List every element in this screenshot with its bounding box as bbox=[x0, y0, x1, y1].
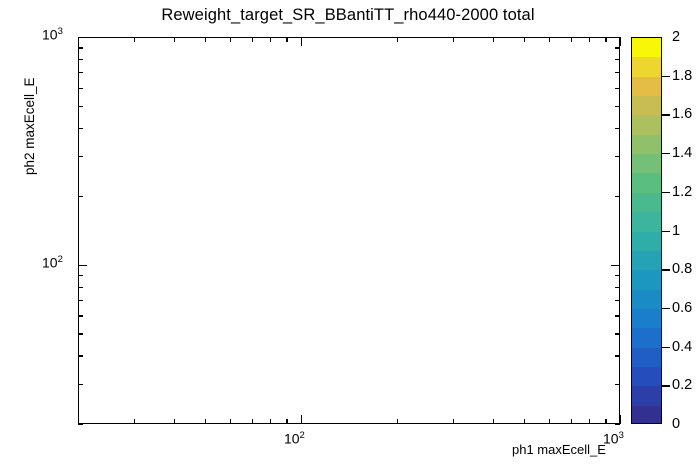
color-bar-tick-label: 0.2 bbox=[672, 377, 692, 393]
axis-tick bbox=[589, 37, 590, 42]
axis-tick bbox=[78, 300, 83, 301]
color-bar-band bbox=[632, 309, 661, 329]
axis-tick bbox=[589, 419, 590, 424]
axis-tick bbox=[78, 156, 83, 157]
axis-tick bbox=[397, 37, 398, 42]
color-bar-band bbox=[632, 135, 661, 155]
x-axis-label: ph1 maxEcell_E bbox=[512, 442, 606, 457]
axis-tick bbox=[78, 384, 83, 385]
color-bar-band bbox=[632, 328, 661, 348]
color-bar-tick bbox=[662, 347, 670, 348]
axis-tick bbox=[230, 419, 231, 424]
axis-tick bbox=[301, 415, 302, 424]
color-bar-tick bbox=[662, 231, 670, 232]
axis-tick bbox=[134, 419, 135, 424]
axis-tick bbox=[252, 419, 253, 424]
axis-tick bbox=[270, 419, 271, 424]
axis-tick bbox=[78, 72, 83, 73]
axis-tick bbox=[615, 72, 620, 73]
chart-title: Reweight_target_SR_BBantiTT_rho440-2000 … bbox=[0, 6, 696, 25]
axis-tick bbox=[615, 300, 620, 301]
axis-tick bbox=[78, 88, 83, 89]
axis-tick bbox=[615, 384, 620, 385]
axis-tick bbox=[571, 37, 572, 42]
color-bar-band bbox=[632, 386, 661, 406]
axis-tick bbox=[252, 37, 253, 42]
color-bar-tick-label: 0.8 bbox=[672, 261, 692, 277]
axis-tick bbox=[615, 333, 620, 334]
axis-tick bbox=[78, 37, 87, 38]
axis-tick bbox=[301, 37, 302, 46]
axis-tick bbox=[270, 37, 271, 42]
color-bar-tick bbox=[662, 76, 670, 77]
color-bar-tick bbox=[662, 308, 670, 309]
color-bar-band bbox=[632, 367, 661, 387]
x-tick-label: 103 bbox=[603, 430, 624, 447]
axis-tick bbox=[615, 88, 620, 89]
color-bar-band bbox=[632, 77, 661, 97]
axis-tick bbox=[78, 275, 83, 276]
color-bar-band bbox=[632, 348, 661, 368]
axis-tick bbox=[78, 47, 83, 48]
plot-frame bbox=[78, 37, 620, 424]
color-bar[interactable] bbox=[631, 37, 662, 424]
x-tick-label: 102 bbox=[284, 430, 305, 447]
axis-tick bbox=[549, 37, 550, 42]
axis-tick bbox=[615, 106, 620, 107]
axis-tick bbox=[615, 287, 620, 288]
axis-tick bbox=[286, 419, 287, 424]
axis-tick bbox=[611, 265, 620, 266]
color-bar-tick-label: 0.4 bbox=[672, 339, 692, 355]
axis-tick bbox=[78, 196, 83, 197]
color-bar-tick bbox=[662, 385, 670, 386]
color-bar-band bbox=[632, 212, 661, 232]
axis-tick bbox=[524, 419, 525, 424]
axis-tick bbox=[78, 128, 83, 129]
axis-tick bbox=[615, 275, 620, 276]
axis-tick bbox=[493, 419, 494, 424]
axis-tick bbox=[571, 419, 572, 424]
axis-tick bbox=[78, 333, 83, 334]
color-bar-band bbox=[632, 38, 661, 58]
color-bar-tick-label: 0 bbox=[672, 416, 680, 432]
axis-tick bbox=[78, 59, 83, 60]
color-bar-tick bbox=[662, 114, 670, 115]
color-bar-tick bbox=[662, 269, 670, 270]
color-bar-band bbox=[632, 270, 661, 290]
axis-tick bbox=[605, 37, 606, 42]
axis-tick bbox=[397, 419, 398, 424]
color-bar-band bbox=[632, 154, 661, 174]
color-bar-band bbox=[632, 406, 661, 424]
axis-tick bbox=[205, 37, 206, 42]
color-bar-tick bbox=[662, 153, 670, 154]
color-bar-band bbox=[632, 173, 661, 193]
axis-tick bbox=[174, 419, 175, 424]
axis-tick bbox=[605, 419, 606, 424]
color-bar-band bbox=[632, 115, 661, 135]
color-bar-band bbox=[632, 57, 661, 77]
color-bar-tick-label: 1.2 bbox=[672, 184, 692, 200]
color-bar-tick bbox=[662, 192, 670, 193]
axis-tick bbox=[620, 37, 621, 46]
axis-tick bbox=[174, 37, 175, 42]
color-bar-tick-label: 1 bbox=[672, 223, 680, 239]
axis-tick bbox=[620, 415, 621, 424]
axis-tick bbox=[615, 47, 620, 48]
axis-tick bbox=[611, 37, 620, 38]
axis-tick bbox=[615, 424, 620, 425]
color-bar-tick-label: 2 bbox=[672, 29, 680, 45]
axis-tick bbox=[230, 37, 231, 42]
axis-tick bbox=[453, 37, 454, 42]
axis-tick bbox=[524, 37, 525, 42]
chart-canvas: Reweight_target_SR_BBantiTT_rho440-2000 … bbox=[0, 0, 696, 472]
axis-tick bbox=[286, 37, 287, 42]
axis-tick bbox=[205, 419, 206, 424]
axis-tick bbox=[615, 156, 620, 157]
axis-tick bbox=[493, 37, 494, 42]
color-bar-band bbox=[632, 251, 661, 271]
color-bar-tick-label: 1.4 bbox=[672, 145, 692, 161]
axis-tick bbox=[615, 355, 620, 356]
axis-tick bbox=[78, 287, 83, 288]
axis-tick bbox=[615, 59, 620, 60]
axis-tick bbox=[78, 265, 87, 266]
axis-tick bbox=[615, 128, 620, 129]
color-bar-band bbox=[632, 232, 661, 252]
axis-tick bbox=[615, 315, 620, 316]
axis-tick bbox=[453, 419, 454, 424]
axis-tick bbox=[78, 315, 83, 316]
y-tick-label: 102 bbox=[42, 254, 63, 271]
color-bar-tick-label: 1.8 bbox=[672, 68, 692, 84]
axis-tick bbox=[134, 37, 135, 42]
axis-tick bbox=[78, 355, 83, 356]
axis-tick bbox=[78, 424, 83, 425]
y-axis-label: ph2 maxEcell_E bbox=[22, 77, 37, 175]
axis-tick bbox=[78, 106, 83, 107]
color-bar-band bbox=[632, 290, 661, 310]
color-bar-tick-label: 0.6 bbox=[672, 300, 692, 316]
color-bar-band bbox=[632, 96, 661, 116]
color-bar-tick-label: 1.6 bbox=[672, 106, 692, 122]
axis-tick bbox=[549, 419, 550, 424]
color-bar-band bbox=[632, 193, 661, 213]
y-tick-label: 103 bbox=[42, 26, 63, 43]
axis-tick bbox=[615, 196, 620, 197]
